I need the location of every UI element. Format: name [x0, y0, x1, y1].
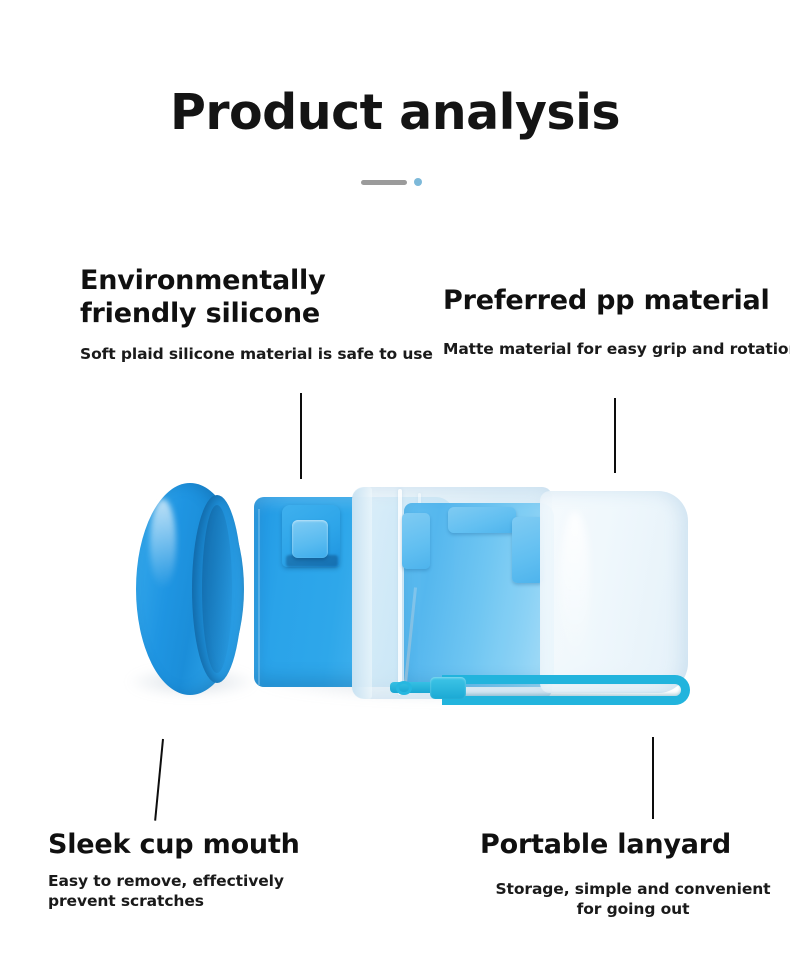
callout-heading: Portable lanyard [480, 829, 780, 862]
callout-environmentally-friendly-silicone: Environmentally friendly silicone Soft p… [80, 265, 430, 364]
page-title: Product analysis [0, 88, 790, 137]
lanyard-loop [442, 675, 690, 705]
callout-sleek-cup-mouth: Sleek cup mouth Easy to remove, effectiv… [48, 829, 378, 911]
silicone-ring-highlight [150, 499, 176, 589]
callout-heading: Environmentally friendly silicone [80, 265, 430, 331]
push-button [292, 520, 328, 558]
callout-subtitle: Easy to remove, effectively prevent scra… [48, 871, 308, 911]
callout-heading: Sleek cup mouth [48, 829, 378, 862]
callout-portable-lanyard: Portable lanyard Storage, simple and con… [480, 829, 780, 919]
divider-bar [361, 180, 407, 185]
cup-base-highlight [560, 511, 590, 661]
grip-tab-2 [448, 507, 516, 533]
lanyard-strap [390, 673, 700, 715]
lanyard-cuff [430, 677, 466, 699]
callout-subtitle: Matte material for easy grip and rotatio… [443, 339, 790, 359]
callout-subtitle: Soft plaid silicone material is safe to … [80, 344, 430, 364]
divider-dot [414, 178, 422, 186]
pp-collar [352, 487, 372, 699]
silicone-ring [136, 483, 244, 695]
callout-subtitle: Storage, simple and convenient for going… [488, 879, 778, 919]
leader-line-lanyard [652, 737, 654, 819]
title-divider [0, 176, 790, 190]
grip-tab-1 [402, 513, 430, 569]
infographic-canvas: Product analysis Environmentally friendl… [0, 0, 790, 962]
silicone-ring-inner-shadow [202, 505, 232, 673]
callout-preferred-pp-material: Preferred pp material Matte material for… [443, 285, 790, 359]
product-photo [0, 455, 790, 740]
callout-heading: Preferred pp material [443, 285, 790, 318]
leader-line-cup-mouth [154, 739, 164, 821]
cup-body-edge-highlight [258, 509, 260, 685]
lanyard-clip [396, 681, 412, 695]
